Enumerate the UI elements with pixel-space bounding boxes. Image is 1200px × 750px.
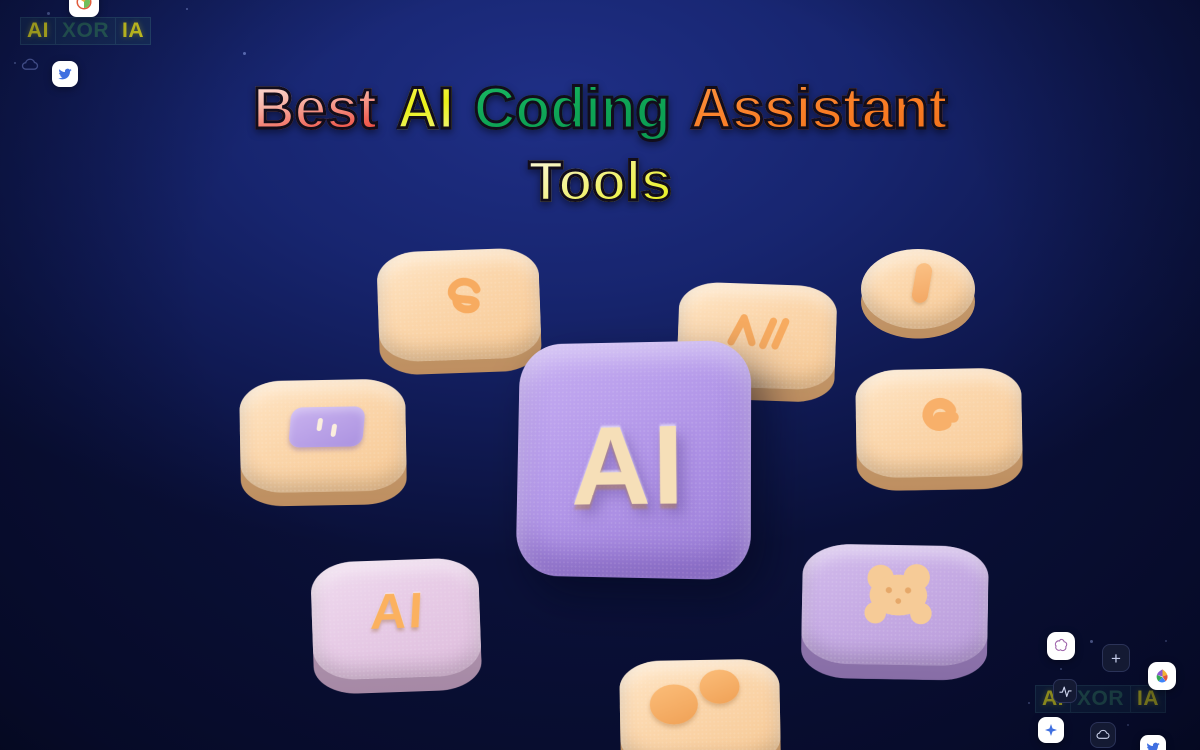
poster-canvas: AI XOR IA BestAICodingAssistant Tools bbox=[0, 0, 1200, 750]
title-word-ai: AI bbox=[397, 78, 454, 139]
spark-icon[interactable] bbox=[1038, 717, 1064, 743]
title-word-assistant: Assistant bbox=[690, 78, 947, 139]
block-bear[interactable] bbox=[801, 543, 989, 666]
block-chat[interactable] bbox=[855, 368, 1023, 479]
brand-part-ia: IA bbox=[115, 17, 151, 45]
title-line-2: Tools bbox=[0, 151, 1200, 210]
hero-ai-block[interactable]: AI bbox=[516, 340, 752, 580]
sparkle bbox=[1127, 724, 1129, 726]
block-glyph bbox=[288, 406, 365, 447]
palette-icon[interactable] bbox=[69, 0, 99, 17]
block-face bbox=[619, 659, 781, 750]
sparkle bbox=[1090, 640, 1093, 643]
cloud-icon bbox=[20, 55, 40, 75]
block-swirl[interactable] bbox=[376, 247, 542, 363]
brand-part-ai: AI bbox=[20, 17, 56, 45]
block-glyph-dot-2 bbox=[699, 669, 740, 704]
block-face bbox=[239, 379, 407, 494]
brand-part-xor: XOR bbox=[56, 17, 115, 45]
cloud-icon[interactable] bbox=[1090, 722, 1116, 748]
title-word-best: Best bbox=[253, 78, 377, 139]
block-face bbox=[801, 543, 989, 666]
block-face: AI bbox=[310, 557, 482, 681]
sparkle bbox=[47, 12, 50, 15]
bird-icon[interactable] bbox=[52, 61, 78, 87]
block-glyph bbox=[911, 262, 934, 304]
plus-symbol: + bbox=[1111, 650, 1121, 667]
pulse-icon[interactable] bbox=[1053, 679, 1077, 703]
sparkle bbox=[243, 52, 246, 55]
hero-ai-label: AI bbox=[571, 399, 686, 530]
block-face bbox=[861, 249, 975, 329]
sparkle bbox=[1028, 702, 1030, 704]
gemini-icon[interactable] bbox=[1148, 662, 1176, 690]
title-word-tools: Tools bbox=[529, 151, 672, 210]
block-pill[interactable] bbox=[861, 249, 975, 329]
title-line-1: BestAICodingAssistant bbox=[0, 78, 1200, 139]
title-word-coding: Coding bbox=[474, 78, 671, 139]
block-face bbox=[855, 368, 1023, 479]
openai-icon[interactable] bbox=[1047, 632, 1075, 660]
block-glyph: AI bbox=[369, 585, 426, 637]
sparkle bbox=[1165, 640, 1167, 642]
block-dots[interactable] bbox=[619, 659, 781, 750]
page-title: BestAICodingAssistant Tools bbox=[0, 78, 1200, 211]
sparkle bbox=[1060, 668, 1062, 670]
brand-part-xor: XOR bbox=[1071, 685, 1130, 713]
block-ai-pink[interactable]: AI bbox=[310, 557, 482, 681]
brand-watermark-top: AI XOR IA bbox=[20, 17, 151, 45]
block-face bbox=[376, 247, 542, 363]
plus-icon[interactable]: + bbox=[1102, 644, 1130, 672]
bird-icon[interactable] bbox=[1140, 735, 1166, 750]
block-window[interactable] bbox=[239, 379, 407, 494]
sparkle bbox=[14, 62, 16, 64]
block-glyph-dot-1 bbox=[650, 684, 699, 725]
sparkle bbox=[186, 8, 188, 10]
